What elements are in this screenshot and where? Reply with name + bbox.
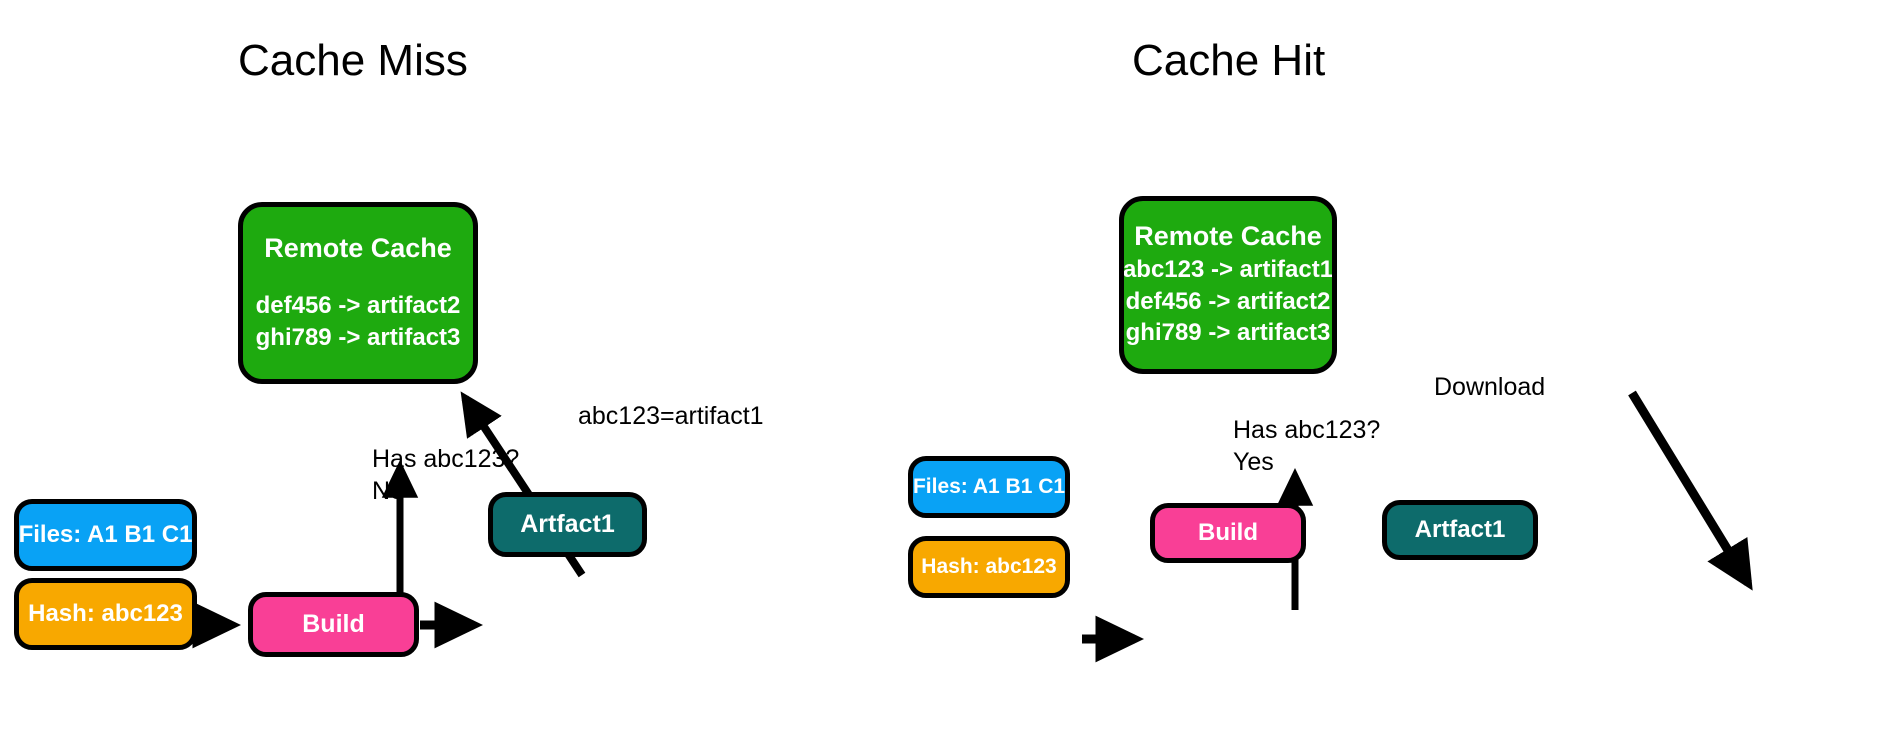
node-build-left[interactable]: Build — [248, 592, 419, 657]
node-files-left[interactable]: Files: A1 B1 C1 — [14, 499, 197, 571]
node-artifact-label: Artfact1 — [520, 510, 614, 540]
edge-label-upload-left: abc123=artifact1 — [578, 400, 764, 432]
cache-entry: def456 -> artifact2 — [256, 290, 461, 322]
remote-cache-title-left: Remote Cache — [264, 233, 452, 264]
node-artifact-right[interactable]: Artfact1 — [1382, 500, 1538, 560]
panel-title-cache-hit: Cache Hit — [1132, 36, 1325, 86]
node-artifact-label: Artfact1 — [1415, 516, 1506, 544]
remote-cache-title-right: Remote Cache — [1134, 221, 1322, 252]
cache-entry: ghi789 -> artifact3 — [1126, 317, 1331, 349]
node-hash-label: Hash: abc123 — [28, 600, 183, 628]
node-files-right[interactable]: Files: A1 B1 C1 — [908, 456, 1070, 518]
node-files-label: Files: A1 B1 C1 — [913, 475, 1065, 500]
node-hash-right[interactable]: Hash: abc123 — [908, 536, 1070, 598]
edge-label-query-right: Has abc123? Yes — [1233, 414, 1380, 478]
diagram-canvas: Cache Miss Remote Cache def456 -> artifa… — [0, 0, 1894, 746]
node-artifact-left[interactable]: Artfact1 — [488, 492, 647, 557]
node-remote-cache-miss[interactable]: Remote Cache def456 -> artifact2 ghi789 … — [238, 202, 478, 384]
edge-label-download-right: Download — [1434, 371, 1545, 403]
node-build-right[interactable]: Build — [1150, 503, 1306, 563]
cache-entry: ghi789 -> artifact3 — [256, 322, 461, 354]
cache-entry: abc123 -> artifact1 — [1123, 254, 1333, 286]
node-build-label: Build — [302, 610, 365, 640]
node-hash-left[interactable]: Hash: abc123 — [14, 578, 197, 650]
cache-entry: def456 -> artifact2 — [1126, 286, 1331, 318]
node-files-label: Files: A1 B1 C1 — [19, 521, 193, 549]
panel-title-cache-miss: Cache Miss — [238, 36, 468, 86]
node-remote-cache-hit[interactable]: Remote Cache abc123 -> artifact1 def456 … — [1119, 196, 1337, 374]
node-hash-label: Hash: abc123 — [921, 555, 1056, 580]
edge-cache-to-artifact-right — [1632, 393, 1748, 583]
node-build-label: Build — [1198, 519, 1258, 547]
